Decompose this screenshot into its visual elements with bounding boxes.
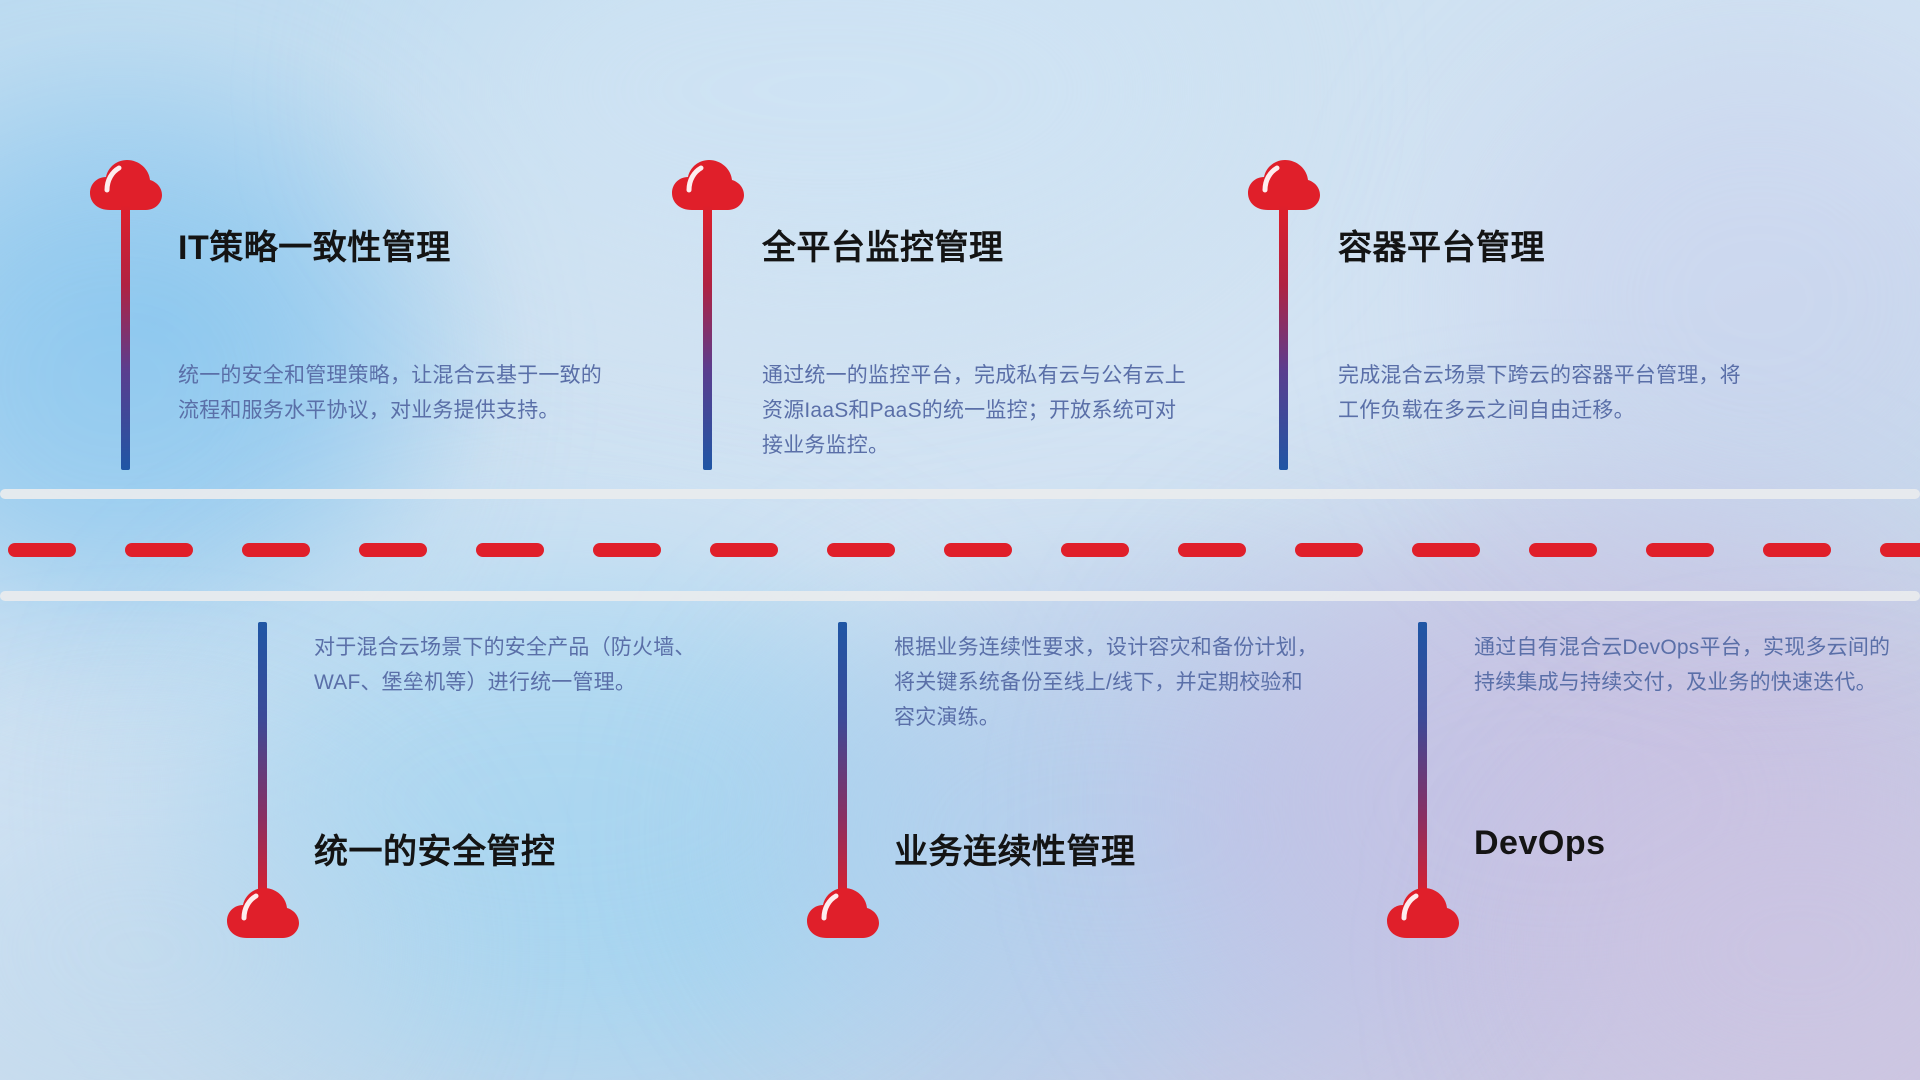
background-blob xyxy=(1540,760,1920,1080)
cloud-icon xyxy=(807,888,879,940)
top-card-1-description: 统一的安全和管理策略，让混合云基于一致的流程和服务水平协议，对业务提供支持。 xyxy=(178,358,608,428)
connector-stem xyxy=(703,205,712,470)
road-dash-segment xyxy=(827,543,895,557)
road-dash-segment xyxy=(8,543,76,557)
road-dash-segment xyxy=(1178,543,1246,557)
connector-stem xyxy=(1279,205,1288,470)
road-dash-segment xyxy=(944,543,1012,557)
road-dash-segment xyxy=(125,543,193,557)
top-card-2-description: 通过统一的监控平台，完成私有云与公有云上资源IaaS和PaaS的统一监控；开放系… xyxy=(762,358,1192,463)
road-dash-segment xyxy=(1880,543,1920,557)
bottom-card-3-description: 通过自有混合云DevOps平台，实现多云间的持续集成与持续交付，及业务的快速迭代… xyxy=(1474,630,1894,700)
road-dash-segment xyxy=(476,543,544,557)
bottom-card-2-title: 业务连续性管理 xyxy=(894,824,1136,873)
road-dash-segment xyxy=(1529,543,1597,557)
road-dash-segment xyxy=(359,543,427,557)
top-card-1-title: IT策略一致性管理 xyxy=(178,220,451,269)
road-dash-segment xyxy=(710,543,778,557)
background-blob xyxy=(1180,520,1920,1080)
cloud-icon xyxy=(227,888,299,940)
background-blob xyxy=(0,760,400,1080)
bottom-card-1-title: 统一的安全管控 xyxy=(314,824,556,873)
top-card-2-title: 全平台监控管理 xyxy=(762,220,1004,269)
connector-stem xyxy=(1418,622,1427,902)
road-dash-segment xyxy=(1646,543,1714,557)
bottom-card-2-description: 根据业务连续性要求，设计容灾和备份计划，将关键系统备份至线上/线下，并定期校验和… xyxy=(894,630,1324,735)
road-dash-segment xyxy=(242,543,310,557)
top-card-3-description: 完成混合云场景下跨云的容器平台管理，将工作负载在多云之间自由迁移。 xyxy=(1338,358,1758,428)
cloud-icon xyxy=(1387,888,1459,940)
road-edge-bottom xyxy=(0,591,1920,601)
road-dash-segment xyxy=(1295,543,1363,557)
hybrid-cloud-capability-infographic: IT策略一致性管理 统一的安全和管理策略，让混合云基于一致的流程和服务水平协议，… xyxy=(0,0,1920,1080)
bottom-card-3-title: DevOps xyxy=(1474,824,1606,863)
road-dash-segment xyxy=(1412,543,1480,557)
background-blob xyxy=(1480,40,1920,560)
connector-stem xyxy=(121,205,130,470)
road-dash-segment xyxy=(1763,543,1831,557)
road-dash-segment xyxy=(593,543,661,557)
connector-stem xyxy=(838,622,847,902)
road-dashed-centerline xyxy=(0,543,1920,557)
connector-stem xyxy=(258,622,267,902)
bottom-card-1-description: 对于混合云场景下的安全产品（防火墙、WAF、堡垒机等）进行统一管理。 xyxy=(314,630,744,700)
road-edge-top xyxy=(0,489,1920,499)
top-card-3-title: 容器平台管理 xyxy=(1338,220,1545,269)
road-dash-segment xyxy=(1061,543,1129,557)
